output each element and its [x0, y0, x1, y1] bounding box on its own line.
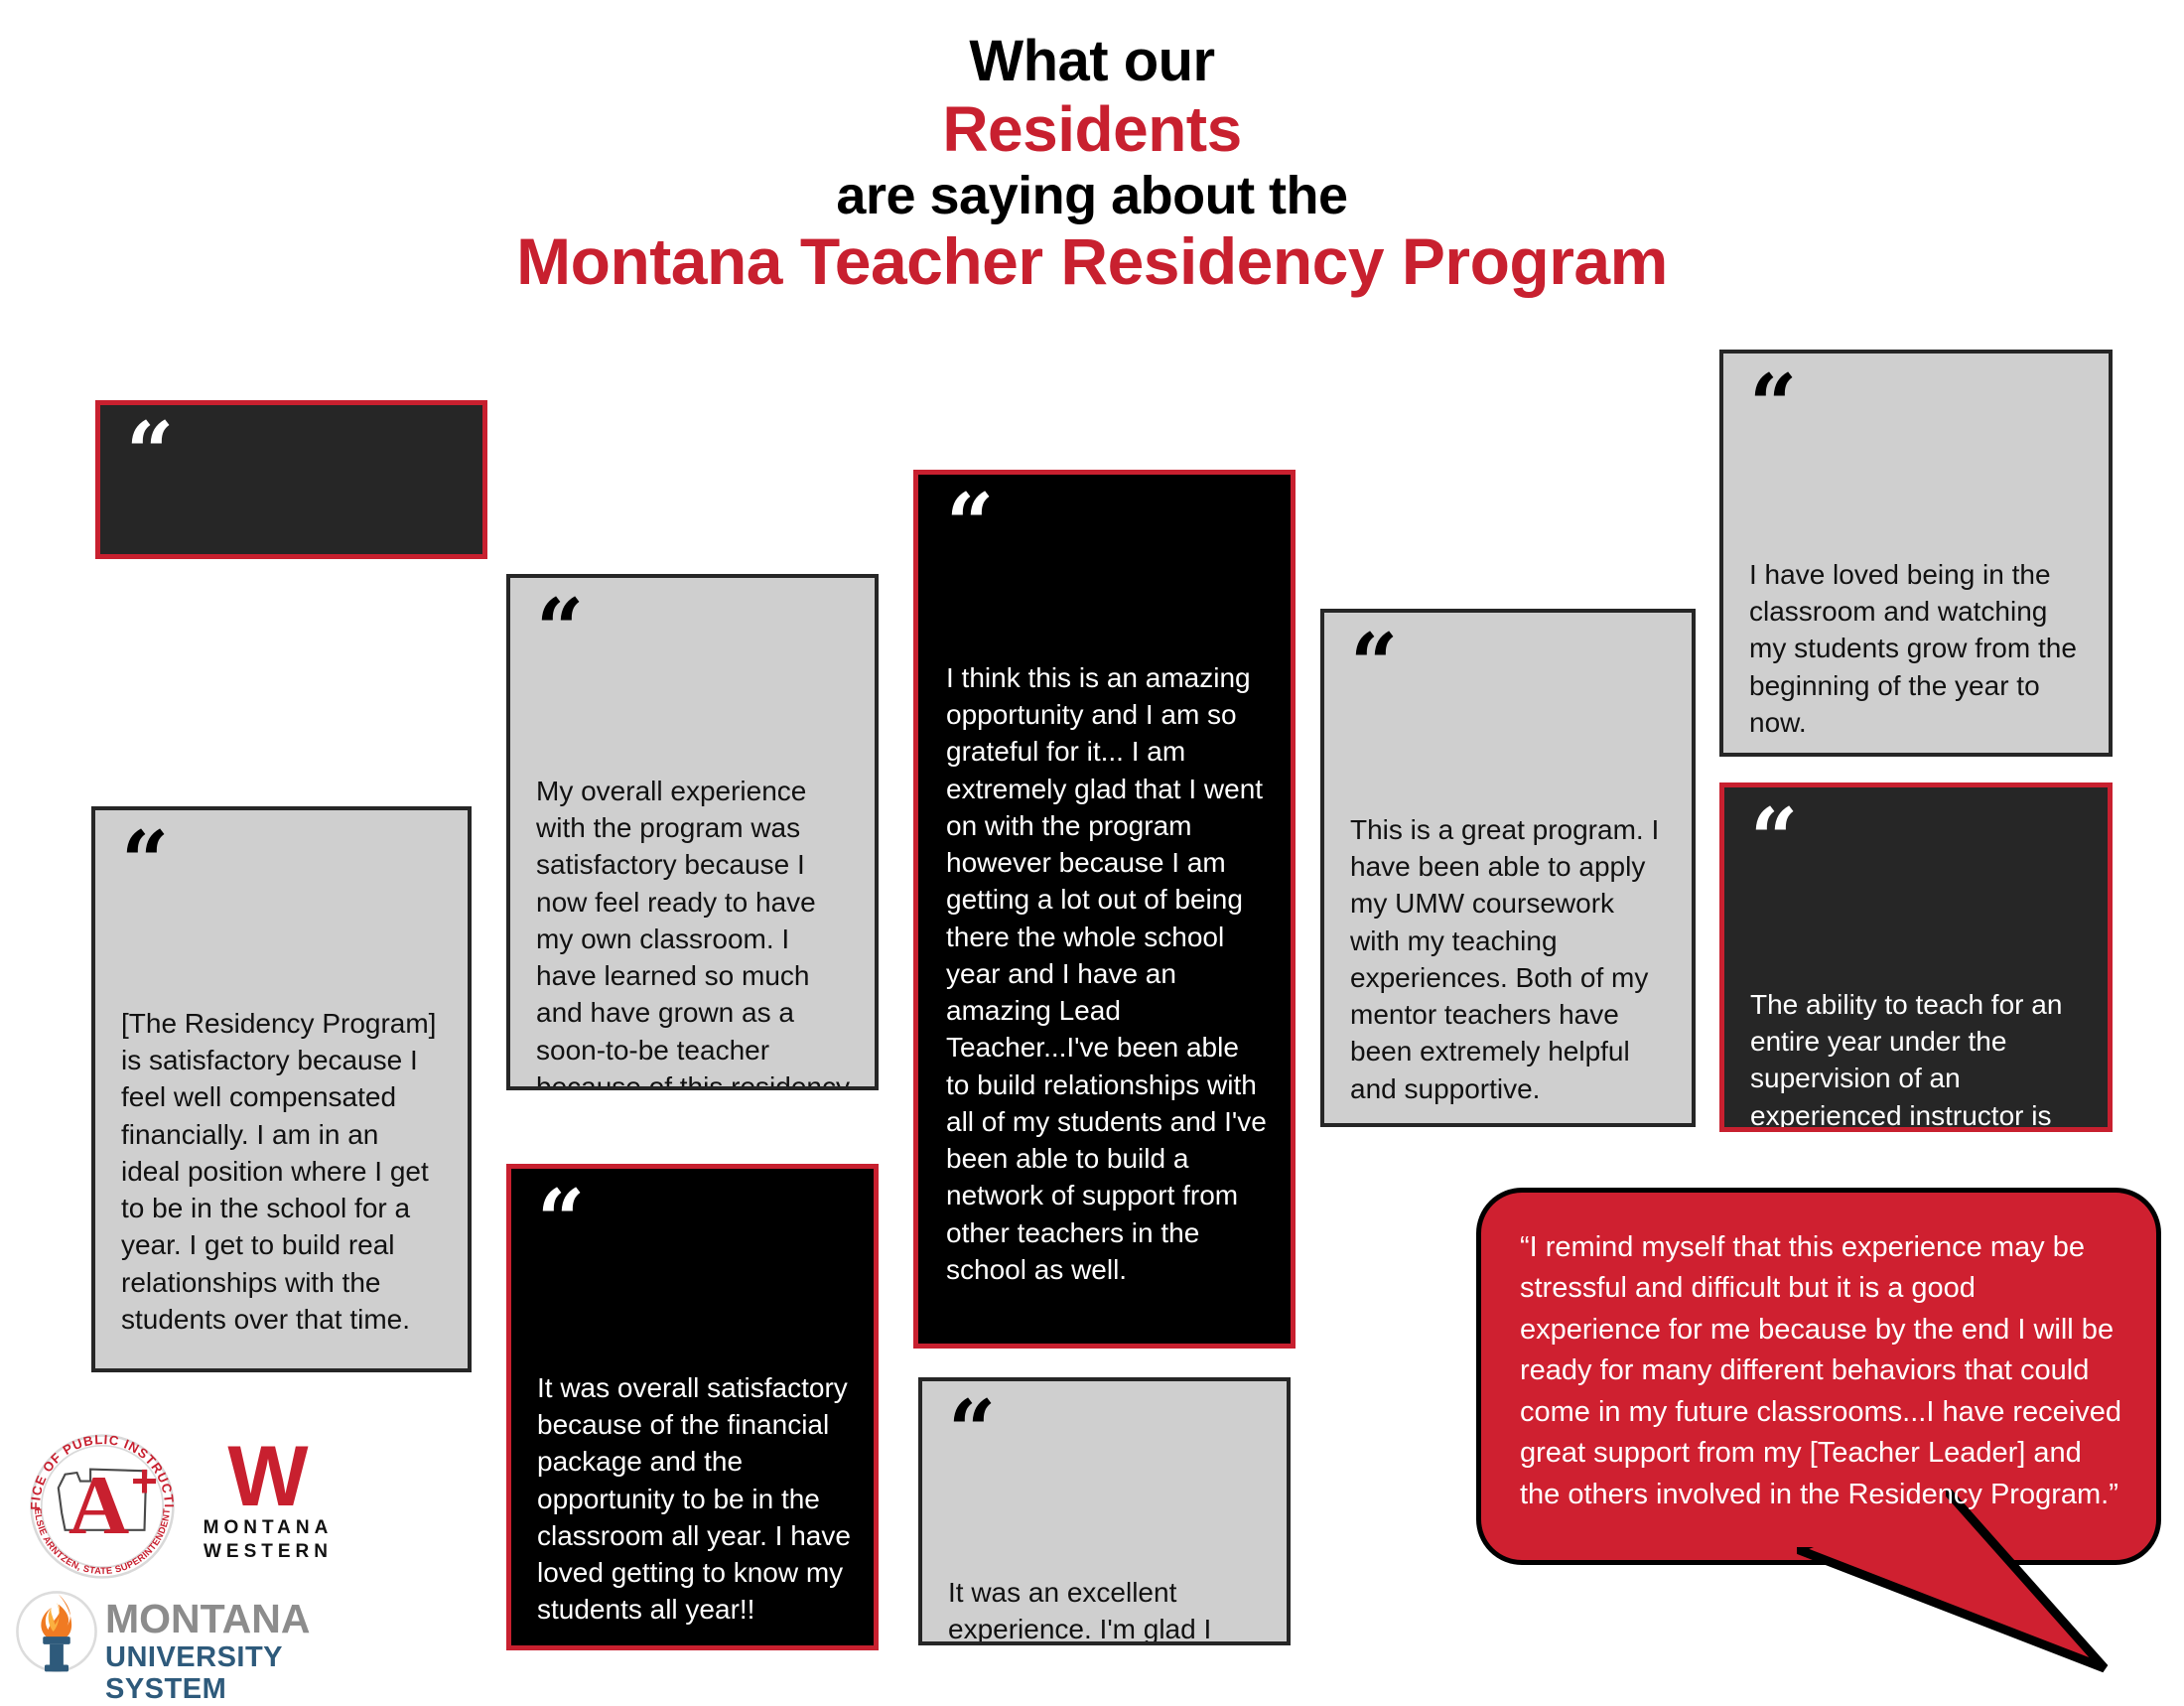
page-title: What our Residents are saying about the … — [0, 30, 2184, 299]
quote-mark-icon: “ — [948, 1405, 1265, 1463]
quote-card: “ This is a great program. I have been a… — [1320, 609, 1696, 1127]
quote-mark-icon: “ — [121, 836, 444, 894]
quote-card: “ I think this is an amazing opportunity… — [913, 470, 1296, 1349]
quote-card: “ I love having an entire year to work c… — [95, 400, 487, 559]
quote-card: “ I have loved being in the classroom an… — [1719, 350, 2113, 757]
speech-bubble-text: “I remind myself that this experience ma… — [1476, 1188, 2161, 1515]
quote-text: My overall experience with the program w… — [536, 773, 853, 1090]
quote-text: The ability to teach for an entire year … — [1750, 986, 2086, 1132]
quote-card: “ It was overall satisfactory because of… — [506, 1164, 879, 1650]
speech-bubble: “I remind myself that this experience ma… — [1476, 1188, 2161, 1565]
title-line-1: What our — [0, 30, 2184, 94]
speech-bubble-tail — [1797, 1490, 2154, 1688]
mus-line-1: MONTANA — [105, 1599, 351, 1639]
title-line-2-residents: Residents — [0, 94, 2184, 166]
quote-card: “ [The Residency Program] is satisfactor… — [91, 806, 472, 1372]
quote-text: It was overall satisfactory because of t… — [537, 1369, 852, 1629]
title-line-4-program-name: Montana Teacher Residency Program — [0, 225, 2184, 299]
montana-university-system-logo: MONTANA UNIVERSITY SYSTEM — [14, 1587, 351, 1678]
mus-line-2: UNIVERSITY SYSTEM — [105, 1642, 351, 1706]
quote-mark-icon: “ — [536, 604, 853, 661]
quote-card: “ It was an excellent experience. I'm gl… — [918, 1377, 1291, 1645]
quote-text: This is a great program. I have been abl… — [1350, 811, 1670, 1107]
quote-text: [The Residency Program] is satisfactory … — [121, 1005, 444, 1338]
mus-wordmark: MONTANA UNIVERSITY SYSTEM — [105, 1599, 351, 1706]
title-line-3: are saying about the — [0, 166, 2184, 225]
quote-mark-icon: “ — [946, 498, 1269, 556]
umw-name-line-1: MONTANA — [194, 1516, 342, 1540]
quote-mark-icon: “ — [1749, 379, 2087, 437]
torch-icon — [14, 1587, 99, 1676]
quote-mark-icon: “ — [537, 1195, 852, 1252]
umw-w-mark-icon: W — [194, 1438, 342, 1516]
quote-card: “ My overall experience with the program… — [506, 574, 879, 1090]
quote-card: “ The ability to teach for an entire yea… — [1719, 782, 2113, 1132]
logo-group: A + OFFICE OF PUBLIC INSTRUCTION ELSIE A… — [10, 1410, 357, 1678]
quote-text: I think this is an amazing opportunity a… — [946, 659, 1269, 1288]
umw-name-line-2: WESTERN — [194, 1540, 342, 1564]
opi-seal-logo: A + OFFICE OF PUBLIC INSTRUCTION ELSIE A… — [18, 1422, 187, 1591]
quote-mark-icon: “ — [126, 427, 457, 485]
quote-text: I have loved being in the classroom and … — [1749, 556, 2087, 741]
svg-text:A: A — [68, 1459, 129, 1552]
quote-mark-icon: “ — [1750, 813, 2086, 871]
quote-text: It was an excellent experience. I'm glad… — [948, 1574, 1265, 1645]
quote-mark-icon: “ — [1350, 639, 1670, 696]
umw-logo: W MONTANA WESTERN — [194, 1438, 342, 1577]
